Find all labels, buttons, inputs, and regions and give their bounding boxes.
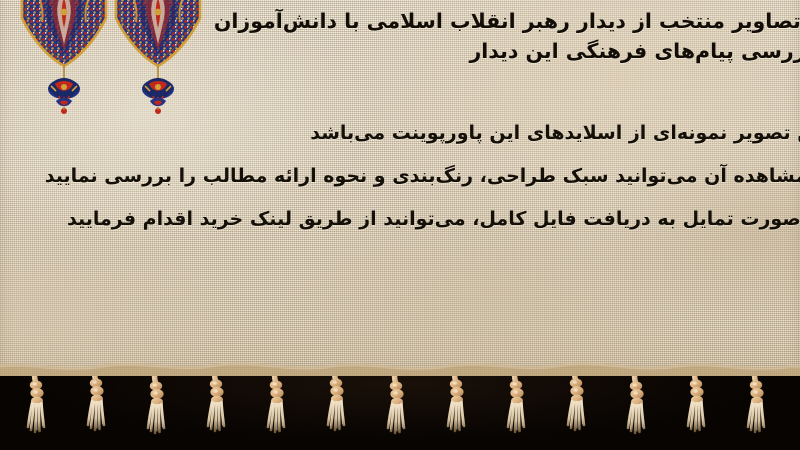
body-line-2: با مشاهده آن می‌توانید سبک طراحی، رنگ‌بن… — [16, 155, 800, 198]
slide-text-layer: یل تصاویر منتخب از دیدار رهبر انقلاب اسل… — [0, 0, 800, 450]
slide-title: یل تصاویر منتخب از دیدار رهبر انقلاب اسل… — [14, 6, 800, 66]
presentation-slide: یل تصاویر منتخب از دیدار رهبر انقلاب اسل… — [0, 0, 800, 450]
slide-body: این تصویر نمونه‌ای از اسلایدهای این پاور… — [16, 112, 800, 241]
body-line-3: در صورت تمایل به دریافت فایل کامل، می‌تو… — [16, 198, 800, 241]
title-line-1: یل تصاویر منتخب از دیدار رهبر انقلاب اسل… — [14, 6, 800, 36]
title-line-2: و بررسی پیام‌های فرهنگی این دیدار — [14, 36, 800, 66]
body-line-1: این تصویر نمونه‌ای از اسلایدهای این پاور… — [16, 112, 800, 155]
